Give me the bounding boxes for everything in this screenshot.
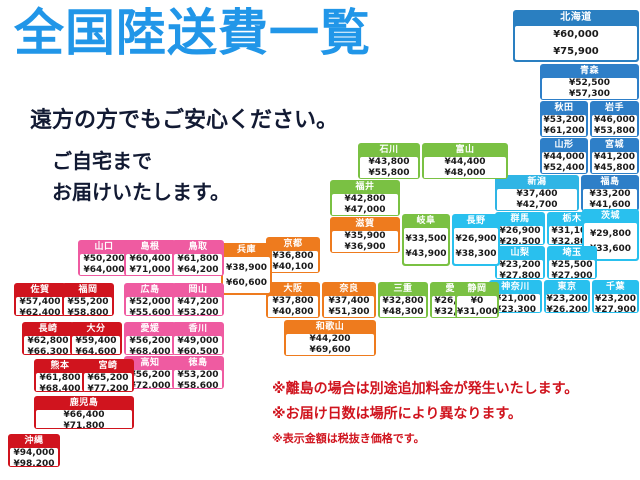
fee-upper: ¥0 — [457, 296, 497, 307]
prefecture-card: 新潟¥37,400¥42,700 — [495, 175, 579, 211]
prefecture-fees: ¥44,400¥48,000 — [424, 157, 506, 179]
fee-upper: ¥23,200 — [594, 294, 637, 305]
fee-upper: ¥65,200 — [84, 373, 132, 384]
prefecture-name: 長野 — [453, 215, 499, 227]
prefecture-name: 福岡 — [63, 284, 113, 296]
prefecture-name: 京都 — [267, 238, 319, 250]
fee-lower: ¥64,200 — [174, 265, 222, 276]
fee-upper: ¥23,200 — [497, 260, 543, 271]
prefecture-name: 石川 — [359, 144, 419, 156]
prefecture-card: 山形¥44,000¥52,400 — [540, 138, 588, 174]
prefecture-fees: ¥61,800¥64,200 — [174, 254, 222, 276]
prefecture-fees: ¥23,200¥27,800 — [497, 260, 543, 279]
fee-lower: ¥69,600 — [286, 345, 374, 356]
fee-upper: ¥35,900 — [332, 231, 398, 242]
prefecture-card: 鳥取¥61,800¥64,200 — [172, 240, 224, 276]
fee-upper: ¥23,200 — [546, 294, 588, 305]
prefecture-name: 岡山 — [173, 284, 223, 296]
prefecture-fees: ¥94,000¥98,200 — [10, 448, 58, 467]
prefecture-card: 滋賀¥35,900¥36,900 — [330, 217, 400, 253]
fee-lower: ¥38,300 — [454, 249, 498, 260]
fee-lower: ¥98,200 — [10, 459, 58, 467]
prefecture-card: 福井¥42,800¥47,000 — [330, 180, 400, 216]
prefecture-name: 埼玉 — [548, 247, 596, 259]
subtitle-home-delivery-line1: ご自宅まで — [52, 145, 152, 174]
fee-lower: ¥40,800 — [268, 307, 318, 318]
fee-lower: ¥47,000 — [332, 205, 398, 216]
prefecture-card: 山口¥50,200¥64,000 — [78, 240, 130, 276]
fee-upper: ¥37,400 — [324, 296, 374, 307]
prefecture-fees: ¥42,800¥47,000 — [332, 194, 398, 216]
fee-upper: ¥33,500 — [404, 234, 448, 245]
prefecture-fees: ¥37,800¥40,800 — [268, 296, 318, 318]
prefecture-fees: ¥55,200¥58,800 — [64, 297, 112, 316]
prefecture-fees: ¥33,200¥41,600 — [583, 189, 637, 211]
prefecture-fees: ¥36,800¥40,100 — [268, 251, 318, 273]
fee-lower: ¥58,600 — [174, 381, 222, 389]
prefecture-name: 奈良 — [323, 283, 375, 295]
prefecture-fees: ¥50,200¥64,000 — [80, 254, 128, 276]
prefecture-name: 徳島 — [173, 357, 223, 369]
fee-upper: ¥25,500 — [549, 260, 595, 271]
prefecture-name: 新潟 — [496, 176, 578, 188]
prefecture-fees: ¥35,900¥36,900 — [332, 231, 398, 253]
fee-lower: ¥64,000 — [80, 265, 128, 276]
prefecture-name: 大阪 — [267, 283, 319, 295]
prefecture-name: 山口 — [79, 241, 129, 253]
fee-upper: ¥33,200 — [583, 189, 637, 200]
prefecture-name: 北海道 — [514, 11, 638, 25]
fee-upper: ¥46,000 — [592, 115, 637, 126]
fee-lower: ¥55,800 — [360, 168, 418, 179]
prefecture-card: 岐阜¥33,500¥43,900 — [402, 214, 450, 266]
fee-upper: ¥66,400 — [36, 410, 132, 421]
prefecture-fees: ¥37,400¥51,300 — [324, 296, 374, 318]
prefecture-name: 東京 — [545, 281, 589, 293]
prefecture-name: 長崎 — [23, 323, 73, 335]
prefecture-fees: ¥46,000¥53,800 — [592, 115, 637, 137]
prefecture-fees: ¥25,500¥27,900 — [549, 260, 595, 279]
fee-lower: ¥51,300 — [324, 307, 374, 318]
fee-lower: ¥60,500 — [174, 347, 222, 355]
fee-lower: ¥36,900 — [332, 242, 398, 253]
fee-upper: ¥41,200 — [592, 152, 637, 163]
prefecture-fees: ¥60,000¥75,900 — [515, 26, 637, 60]
prefecture-card: 愛媛¥56,200¥68,400 — [124, 322, 176, 355]
prefecture-name: 富山 — [423, 144, 507, 156]
prefecture-name: 山形 — [541, 139, 587, 151]
fee-lower: ¥27,900 — [549, 271, 595, 279]
note-remote-island: ※離島の場合は別途追加料金が発生いたします。 — [272, 378, 578, 398]
fee-upper: ¥55,200 — [64, 297, 112, 308]
prefecture-fees: ¥26,900¥38,300 — [454, 228, 498, 264]
fee-lower: ¥58,800 — [64, 308, 112, 316]
prefecture-card: 青森¥52,500¥57,300 — [540, 64, 639, 100]
note-tax-excluded: ※表示金額は税抜き価格です。 — [272, 430, 425, 446]
fee-lower: ¥60,600 — [223, 278, 270, 289]
prefecture-card: 埼玉¥25,500¥27,900 — [547, 246, 597, 279]
fee-upper: ¥56,200 — [126, 336, 174, 347]
prefecture-name: 滋賀 — [331, 218, 399, 230]
fee-lower: ¥27,900 — [594, 305, 637, 313]
fee-upper: ¥42,800 — [332, 194, 398, 205]
fee-lower: ¥26,200 — [546, 305, 588, 313]
prefecture-fees: ¥38,900¥60,600 — [223, 257, 270, 293]
prefecture-card: 東京¥23,200¥26,200 — [544, 280, 590, 313]
fee-upper: ¥60,000 — [515, 28, 637, 41]
fee-upper: ¥26,900 — [497, 226, 543, 237]
prefecture-card: 北海道¥60,000¥75,900 — [513, 10, 639, 62]
prefecture-name: 山梨 — [496, 247, 544, 259]
prefecture-name: 広島 — [125, 284, 175, 296]
fee-upper: ¥61,800 — [36, 373, 84, 384]
prefecture-name: 千葉 — [593, 281, 638, 293]
prefecture-card: 和歌山¥44,200¥69,600 — [284, 320, 376, 356]
prefecture-card: 島根¥60,400¥71,000 — [124, 240, 176, 276]
prefecture-card: 山梨¥23,200¥27,800 — [495, 246, 545, 279]
prefecture-fees: ¥44,200¥69,600 — [286, 334, 374, 356]
prefecture-name: 愛媛 — [125, 323, 175, 335]
prefecture-name: 鹿児島 — [35, 397, 133, 409]
fee-upper: ¥52,500 — [542, 78, 637, 89]
prefecture-name: 香川 — [173, 323, 223, 335]
prefecture-fees: ¥53,200¥58,600 — [174, 370, 222, 389]
prefecture-name: 大分 — [71, 323, 121, 335]
fee-lower: ¥29,500 — [497, 237, 543, 245]
prefecture-fees: ¥44,000¥52,400 — [542, 152, 586, 174]
fee-lower: ¥62,400 — [16, 308, 64, 316]
fee-upper: ¥62,800 — [24, 336, 72, 347]
fee-lower: ¥71,800 — [36, 421, 132, 429]
fee-lower: ¥68,400 — [126, 347, 174, 355]
note-delivery-days: ※お届け日数は場所により異なります。 — [272, 403, 522, 423]
fee-upper: ¥60,400 — [126, 254, 174, 265]
prefecture-fees: ¥32,800¥48,300 — [380, 296, 426, 318]
fee-upper: ¥49,000 — [174, 336, 222, 347]
fee-lower: ¥53,800 — [592, 126, 637, 137]
fee-lower: ¥27,800 — [497, 271, 543, 279]
prefecture-card: 鹿児島¥66,400¥71,800 — [34, 396, 134, 429]
prefecture-name: 群馬 — [496, 213, 544, 225]
page-title: 全国陸送費一覧 — [14, 8, 371, 58]
prefecture-name: 沖縄 — [9, 435, 59, 447]
prefecture-card: 香川¥49,000¥60,500 — [172, 322, 224, 355]
prefecture-card: 佐賀¥57,400¥62,400 — [14, 283, 66, 316]
fee-upper: ¥61,800 — [174, 254, 222, 265]
fee-upper: ¥32,800 — [380, 296, 426, 307]
prefecture-name: 茨城 — [583, 210, 638, 222]
prefecture-name: 島根 — [125, 241, 175, 253]
prefecture-fees: ¥61,800¥68,400 — [36, 373, 84, 392]
prefecture-card: 兵庫¥38,900¥60,600 — [221, 243, 272, 295]
prefecture-card: 奈良¥37,400¥51,300 — [322, 282, 376, 318]
fee-upper: ¥29,800 — [584, 229, 637, 240]
prefecture-card: 京都¥36,800¥40,100 — [266, 237, 320, 273]
fee-lower: ¥48,000 — [424, 168, 506, 179]
prefecture-name: 熊本 — [35, 360, 85, 372]
fee-upper: ¥44,400 — [424, 157, 506, 168]
prefecture-card: 福岡¥55,200¥58,800 — [62, 283, 114, 316]
prefecture-fees: ¥26,900¥29,500 — [497, 226, 543, 245]
prefecture-fees: ¥52,000¥55,600 — [126, 297, 174, 316]
fee-upper: ¥38,900 — [223, 263, 270, 274]
prefecture-name: 和歌山 — [285, 321, 375, 333]
prefecture-name: 鳥取 — [173, 241, 223, 253]
fee-lower: ¥52,400 — [542, 163, 586, 174]
prefecture-card: 岡山¥47,200¥53,200 — [172, 283, 224, 316]
fee-upper: ¥50,200 — [80, 254, 128, 265]
fee-lower: ¥77,200 — [84, 384, 132, 392]
fee-lower: ¥55,600 — [126, 308, 174, 316]
fee-lower: ¥40,100 — [268, 262, 318, 273]
prefecture-card: 大分¥59,400¥64,600 — [70, 322, 122, 355]
fee-upper: ¥44,200 — [286, 334, 374, 345]
fee-lower: ¥31,000 — [457, 307, 497, 318]
prefecture-fees: ¥37,400¥42,700 — [497, 189, 577, 211]
fee-upper: ¥53,200 — [542, 115, 586, 126]
fee-lower: ¥43,900 — [404, 249, 448, 260]
prefecture-card: 宮城¥41,200¥45,800 — [590, 138, 639, 174]
prefecture-fees: ¥57,400¥62,400 — [16, 297, 64, 316]
prefecture-fees: ¥0¥31,000 — [457, 296, 497, 318]
prefecture-fees: ¥65,200¥77,200 — [84, 373, 132, 392]
prefecture-card: 大阪¥37,800¥40,800 — [266, 282, 320, 318]
fee-upper: ¥26,900 — [454, 234, 498, 245]
fee-upper: ¥57,400 — [16, 297, 64, 308]
prefecture-fees: ¥52,500¥57,300 — [542, 78, 637, 100]
prefecture-card: 熊本¥61,800¥68,400 — [34, 359, 86, 392]
prefecture-fees: ¥62,800¥66,300 — [24, 336, 72, 355]
fee-lower: ¥71,000 — [126, 265, 174, 276]
prefecture-card: 徳島¥53,200¥58,600 — [172, 356, 224, 389]
prefecture-name: 福島 — [582, 176, 638, 188]
prefecture-fees: ¥59,400¥64,600 — [72, 336, 120, 355]
fee-upper: ¥37,800 — [268, 296, 318, 307]
subtitle-home-delivery-line2: お届けいたします。 — [52, 176, 230, 205]
prefecture-fees: ¥47,200¥53,200 — [174, 297, 222, 316]
prefecture-name: 宮城 — [591, 139, 638, 151]
prefecture-name: 佐賀 — [15, 284, 65, 296]
fee-upper: ¥53,200 — [174, 370, 222, 381]
prefecture-name: 岩手 — [591, 102, 638, 114]
fee-upper: ¥47,200 — [174, 297, 222, 308]
prefecture-card: 静岡¥0¥31,000 — [455, 282, 499, 318]
prefecture-fees: ¥41,200¥45,800 — [592, 152, 637, 174]
fee-upper: ¥59,400 — [72, 336, 120, 347]
prefecture-card: 長野¥26,900¥38,300 — [452, 214, 500, 266]
fee-upper: ¥52,000 — [126, 297, 174, 308]
prefecture-name: 青森 — [541, 65, 638, 77]
fee-lower: ¥53,200 — [174, 308, 222, 316]
fee-lower: ¥64,600 — [72, 347, 120, 355]
fee-upper: ¥37,400 — [497, 189, 577, 200]
fee-upper: ¥36,800 — [268, 251, 318, 262]
prefecture-fees: ¥33,500¥43,900 — [404, 228, 448, 264]
prefecture-card: 沖縄¥94,000¥98,200 — [8, 434, 60, 467]
shipping-fee-poster: 全国陸送費一覧 遠方の方でもご安心ください。 ご自宅まで お届けいたします。 北… — [0, 0, 640, 480]
prefecture-card: 岩手¥46,000¥53,800 — [590, 101, 639, 137]
fee-lower: ¥66,300 — [24, 347, 72, 355]
prefecture-fees: ¥23,200¥27,900 — [594, 294, 637, 313]
prefecture-card: 福島¥33,200¥41,600 — [581, 175, 639, 211]
prefecture-fees: ¥56,200¥68,400 — [126, 336, 174, 355]
prefecture-fees: ¥43,800¥55,800 — [360, 157, 418, 179]
prefecture-card: 秋田¥53,200¥61,200 — [540, 101, 588, 137]
prefecture-fees: ¥66,400¥71,800 — [36, 410, 132, 429]
prefecture-fees: ¥49,000¥60,500 — [174, 336, 222, 355]
prefecture-name: 三重 — [379, 283, 427, 295]
prefecture-fees: ¥23,200¥26,200 — [546, 294, 588, 313]
fee-upper: ¥44,000 — [542, 152, 586, 163]
fee-upper: ¥94,000 — [10, 448, 58, 459]
prefecture-name: 岐阜 — [403, 215, 449, 227]
prefecture-name: 宮崎 — [83, 360, 133, 372]
prefecture-fees: ¥53,200¥61,200 — [542, 115, 586, 137]
fee-lower: ¥68,400 — [36, 384, 84, 392]
fee-lower: ¥48,300 — [380, 307, 426, 318]
fee-lower: ¥61,200 — [542, 126, 586, 137]
prefecture-card: 宮崎¥65,200¥77,200 — [82, 359, 134, 392]
prefecture-card: 石川¥43,800¥55,800 — [358, 143, 420, 179]
fee-lower: ¥75,900 — [515, 45, 637, 58]
fee-upper: ¥43,800 — [360, 157, 418, 168]
fee-lower: ¥42,700 — [497, 200, 577, 211]
fee-lower: ¥57,300 — [542, 89, 637, 100]
prefecture-name: 静岡 — [456, 283, 498, 295]
prefecture-card: 群馬¥26,900¥29,500 — [495, 212, 545, 245]
prefecture-card: 三重¥32,800¥48,300 — [378, 282, 428, 318]
prefecture-fees: ¥60,400¥71,000 — [126, 254, 174, 276]
prefecture-name: 福井 — [331, 181, 399, 193]
prefecture-name: 秋田 — [541, 102, 587, 114]
fee-lower: ¥45,800 — [592, 163, 637, 174]
prefecture-card: 富山¥44,400¥48,000 — [422, 143, 508, 179]
subtitle-reassurance: 遠方の方でもご安心ください。 — [30, 102, 338, 134]
prefecture-card: 広島¥52,000¥55,600 — [124, 283, 176, 316]
prefecture-name: 兵庫 — [222, 244, 271, 256]
prefecture-card: 千葉¥23,200¥27,900 — [592, 280, 639, 313]
prefecture-card: 長崎¥62,800¥66,300 — [22, 322, 74, 355]
